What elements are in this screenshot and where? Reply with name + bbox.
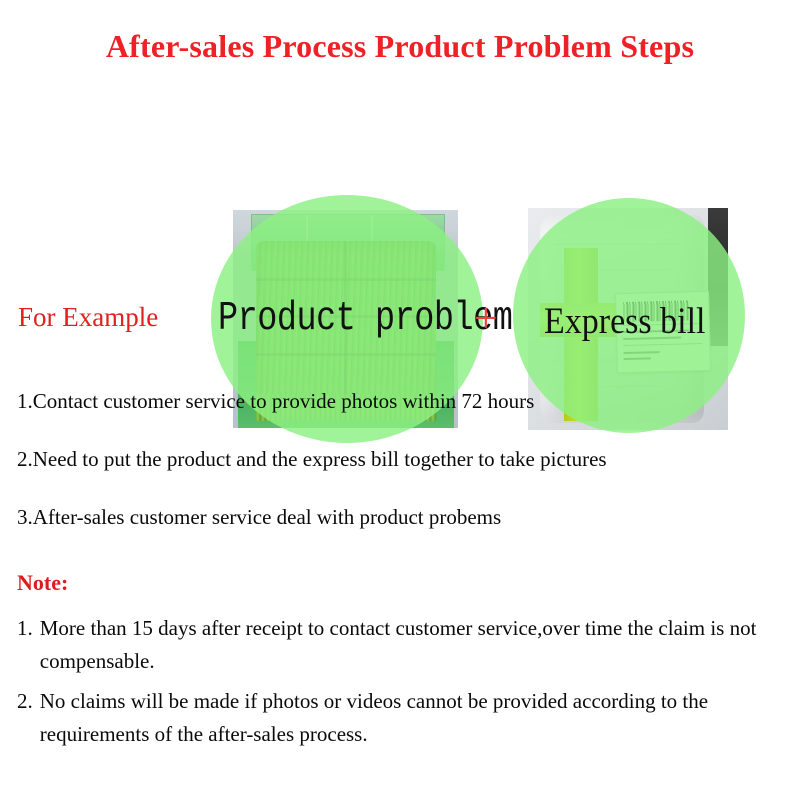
- steps-list: 1.Contact customer service to provide ph…: [17, 390, 783, 564]
- photo-edge-shadow: [708, 208, 728, 346]
- for-example-label: For Example: [18, 302, 158, 333]
- note-item: 2. No claims will be made if photos or v…: [17, 685, 792, 750]
- express-bill-caption: Express bill: [544, 301, 705, 343]
- product-problem-caption: Product problem: [218, 296, 512, 342]
- note-item-number: 1.: [17, 612, 40, 677]
- step-item: 1.Contact customer service to provide ph…: [17, 390, 783, 413]
- step-item: 2.Need to put the product and the expres…: [17, 448, 783, 471]
- note-item-text: No claims will be made if photos or vide…: [40, 685, 792, 750]
- note-item-text: More than 15 days after receipt to conta…: [40, 612, 792, 677]
- note-list: 1. More than 15 days after receipt to co…: [17, 612, 792, 758]
- note-item-number: 2.: [17, 685, 40, 750]
- step-item: 3.After-sales customer service deal with…: [17, 506, 783, 529]
- example-strip: For Example: [0, 95, 800, 355]
- note-item: 1. More than 15 days after receipt to co…: [17, 612, 792, 677]
- plus-separator-icon: +: [474, 298, 498, 340]
- page-title: After-sales Process Product Problem Step…: [0, 28, 800, 65]
- note-heading: Note:: [17, 570, 68, 596]
